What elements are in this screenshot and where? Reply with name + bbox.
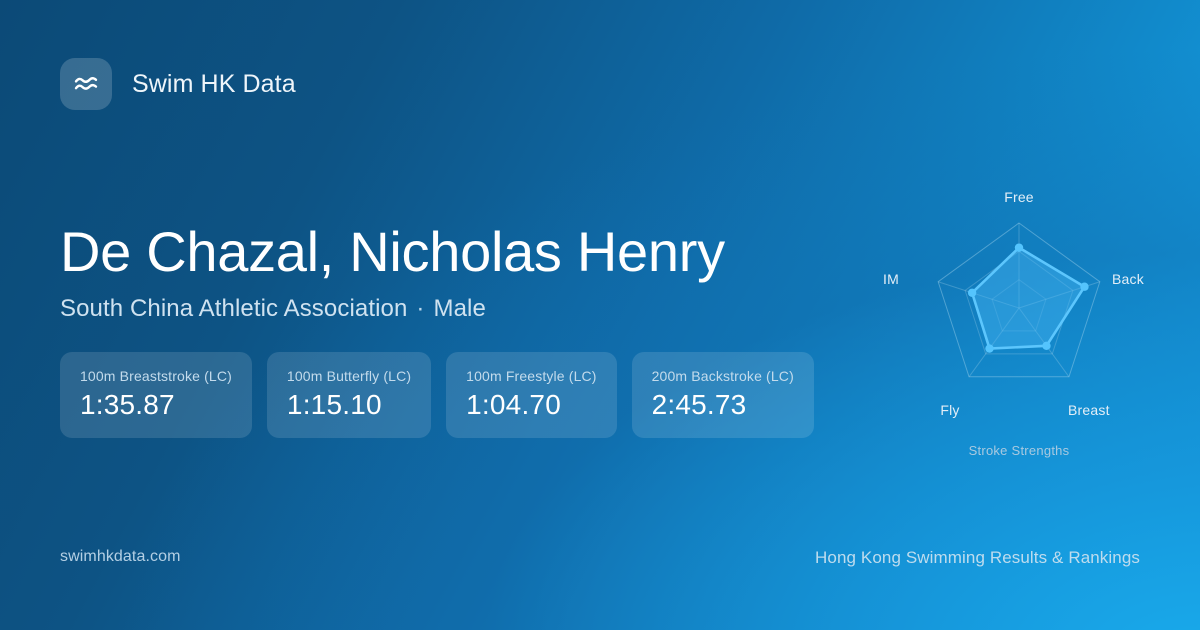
stat-card[interactable]: 100m Butterfly (LC) 1:15.10 [267,352,431,438]
page-title: De Chazal, Nicholas Henry [60,222,725,281]
radar-axis-label-back: Back [1112,271,1144,287]
footer-tagline: Hong Kong Swimming Results & Rankings [815,548,1140,568]
stat-card[interactable]: 200m Backstroke (LC) 2:45.73 [632,352,814,438]
radar-caption: Stroke Strengths [969,443,1070,458]
radar-point-breast [1042,342,1050,350]
footer-site-url: swimhkdata.com [60,548,181,566]
stat-card[interactable]: 100m Breaststroke (LC) 1:35.87 [60,352,252,438]
athlete-header: De Chazal, Nicholas Henry South China At… [60,222,725,323]
stat-card-value: 1:35.87 [80,389,232,421]
radar-series-area [972,248,1084,349]
stat-card-value: 2:45.73 [652,389,794,421]
stat-card-label: 100m Breaststroke (LC) [80,368,232,384]
meta-separator: · [407,295,433,322]
athlete-meta: South China Athletic Association·Male [60,295,725,323]
radar-axis-label-breast: Breast [1068,402,1110,418]
radar-point-back [1080,283,1088,291]
stat-card-label: 200m Backstroke (LC) [652,368,794,384]
stat-card-list: 100m Breaststroke (LC) 1:35.87 100m Butt… [60,352,814,438]
stat-card-value: 1:15.10 [287,389,411,421]
radar-axis-label-free: Free [1004,189,1034,205]
athlete-club: South China Athletic Association [60,295,407,322]
radar-point-im [968,289,976,297]
stat-card-label: 100m Butterfly (LC) [287,368,411,384]
stat-card[interactable]: 100m Freestyle (LC) 1:04.70 [446,352,616,438]
stat-card-value: 1:04.70 [466,389,596,421]
wave-icon [60,58,112,110]
stroke-strengths-radar-chart: Free Back Breast Fly IM Stroke Strengths [869,160,1169,470]
radar-axis-label-fly: Fly [940,402,959,418]
radar-axis-label-im: IM [883,271,899,287]
athlete-gender: Male [434,295,486,322]
brand-lockup[interactable]: Swim HK Data [60,58,296,110]
radar-point-free [1015,243,1023,251]
stat-card-label: 100m Freestyle (LC) [466,368,596,384]
share-card: Swim HK Data De Chazal, Nicholas Henry S… [0,0,1200,630]
radar-svg [869,160,1169,460]
brand-name: Swim HK Data [132,70,296,99]
radar-point-fly [985,344,993,352]
